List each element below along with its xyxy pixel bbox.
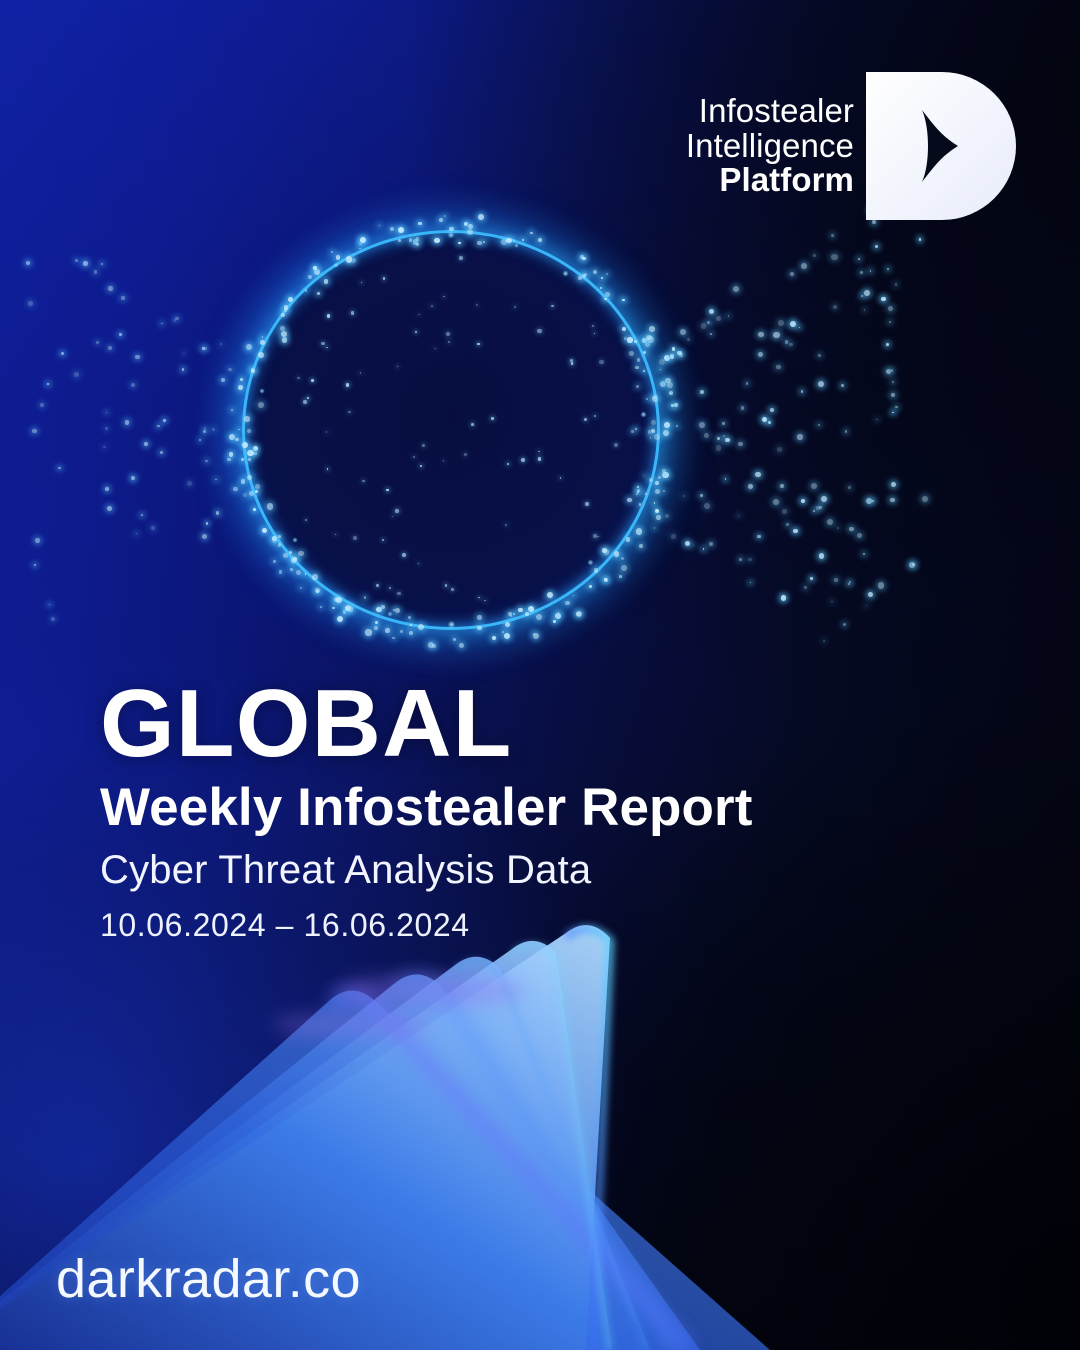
darkradar-d-arrow-icon — [866, 66, 1018, 226]
report-date-range: 10.06.2024 – 16.06.2024 — [100, 907, 752, 944]
brand-logo: Infostealer Intelligence Platform — [686, 66, 1018, 226]
brand-logo-line1: Infostealer — [699, 94, 854, 129]
website-url: darkradar.co — [56, 1248, 361, 1310]
brand-logo-line3: Platform — [719, 163, 854, 198]
page-title: GLOBAL — [100, 676, 752, 772]
brand-logo-text: Infostealer Intelligence Platform — [686, 94, 854, 199]
brand-logo-line2: Intelligence — [686, 129, 854, 164]
headline-block: GLOBAL Weekly Infostealer Report Cyber T… — [100, 676, 752, 944]
report-subtitle: Weekly Infostealer Report — [100, 778, 752, 837]
report-description: Cyber Threat Analysis Data — [100, 847, 752, 893]
poster-canvas: Infostealer Intelligence Platform — [0, 0, 1080, 1350]
